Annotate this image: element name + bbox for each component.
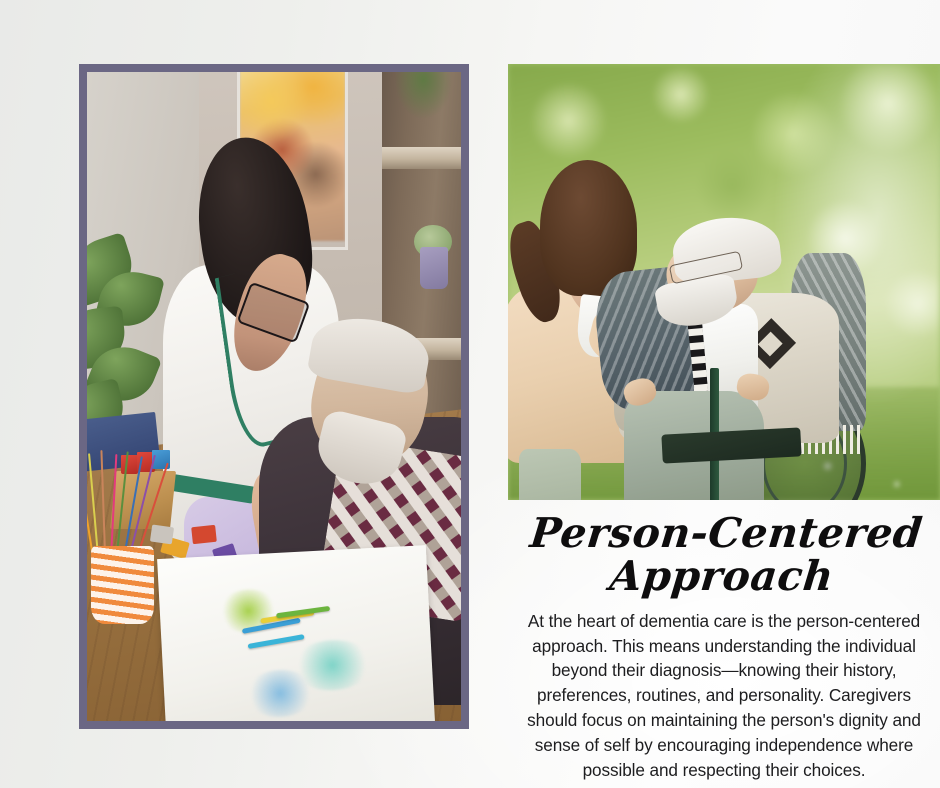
poster-canvas: Person-Centered Approach At the heart of… (0, 0, 940, 788)
plant-pot-upper (420, 247, 448, 289)
nurse-trousers (519, 449, 581, 500)
page-title-line-1: Person-Centered (528, 509, 925, 557)
left-photo-art-therapy (87, 72, 461, 721)
right-photo-outdoor-wheelchair (508, 64, 940, 500)
hanging-plant (390, 72, 457, 150)
body-paragraph: At the heart of dementia care is the per… (516, 609, 932, 782)
text-block: Person-Centered Approach At the heart of… (508, 512, 940, 782)
elderly-man-wheelchair-figure (603, 230, 871, 500)
art-canvas (157, 545, 436, 721)
pencil-cup (91, 546, 155, 624)
shelf-board-upper (382, 147, 461, 169)
left-photo-frame (79, 64, 469, 729)
page-title-line-2: Approach (608, 552, 836, 600)
page-title: Person-Centered Approach (503, 512, 940, 599)
